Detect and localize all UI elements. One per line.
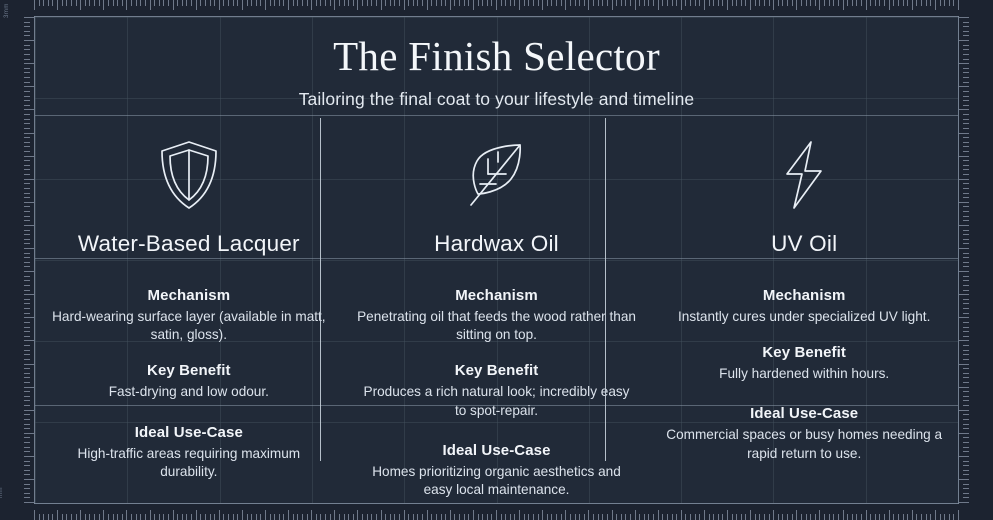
ruler-bottom — [0, 504, 993, 520]
frame-left-border — [34, 16, 35, 504]
card-title: UV Oil — [664, 231, 944, 257]
column-divider-2 — [605, 118, 606, 461]
ruler-label-bottom: mm — [0, 487, 4, 498]
fact-value: High-traffic areas requiring maximum dur… — [49, 445, 329, 481]
ruler-label-top: 3mm — [4, 3, 10, 18]
page-title: The Finish Selector — [35, 33, 958, 80]
fact-label: Ideal Use-Case — [49, 424, 329, 441]
fact-label: Mechanism — [664, 287, 944, 304]
card-title: Hardwax Oil — [357, 231, 637, 257]
card-facts: Mechanism Instantly cures under speciali… — [664, 287, 944, 463]
frame-right-border — [958, 16, 959, 504]
fact-label: Ideal Use-Case — [357, 442, 637, 459]
ruler-top — [0, 0, 993, 16]
fact-mechanism: Mechanism Penetrating oil that feeds the… — [357, 287, 637, 344]
card-facts: Mechanism Hard-wearing surface layer (av… — [49, 287, 329, 481]
fact-ideal-use-case: Ideal Use-Case Homes prioritizing organi… — [357, 442, 637, 499]
lightning-bolt-icon — [664, 138, 944, 212]
fact-value: Produces a rich natural look; incredibly… — [357, 383, 637, 419]
fact-mechanism: Mechanism Hard-wearing surface layer (av… — [49, 287, 329, 344]
leaf-icon — [357, 138, 637, 212]
card-title: Water-Based Lacquer — [49, 231, 329, 257]
shield-icon — [49, 138, 329, 212]
finish-columns: Water-Based Lacquer Mechanism Hard-weari… — [35, 122, 958, 503]
fact-value: Commercial spaces or busy homes needing … — [664, 426, 944, 462]
infographic-canvas: 3mm mm The Finish Selector Tailoring the… — [0, 0, 993, 520]
card-facts: Mechanism Penetrating oil that feeds the… — [357, 287, 637, 499]
fact-ideal-use-case: Ideal Use-Case High-traffic areas requir… — [49, 424, 329, 481]
fact-value: Fast-drying and low odour. — [49, 383, 329, 401]
fact-label: Ideal Use-Case — [664, 405, 944, 422]
fact-label: Key Benefit — [664, 344, 944, 361]
ruler-left: 3mm mm — [0, 0, 34, 520]
fact-mechanism: Mechanism Instantly cures under speciali… — [664, 287, 944, 326]
fact-label: Key Benefit — [49, 362, 329, 379]
fact-key-benefit: Key Benefit Fast-drying and low odour. — [49, 362, 329, 401]
fact-value: Hard-wearing surface layer (available in… — [49, 308, 329, 344]
column-divider-1 — [320, 118, 321, 461]
fact-label: Mechanism — [49, 287, 329, 304]
fact-value: Homes prioritizing organic aesthetics an… — [357, 463, 637, 499]
fact-value: Instantly cures under specialized UV lig… — [664, 308, 944, 326]
fact-value: Fully hardened within hours. — [664, 365, 944, 383]
fact-label: Mechanism — [357, 287, 637, 304]
fact-value: Penetrating oil that feeds the wood rath… — [357, 308, 637, 344]
fact-key-benefit: Key Benefit Fully hardened within hours. — [664, 344, 944, 383]
finish-card-uv-oil: UV Oil Mechanism Instantly cures under s… — [650, 122, 958, 503]
header: The Finish Selector Tailoring the final … — [35, 17, 958, 110]
fact-key-benefit: Key Benefit Produces a rich natural look… — [357, 362, 637, 419]
ruler-right — [959, 0, 993, 520]
fact-ideal-use-case: Ideal Use-Case Commercial spaces or busy… — [664, 405, 944, 462]
frame-top-border — [34, 16, 959, 17]
page-subtitle: Tailoring the final coat to your lifesty… — [35, 89, 958, 110]
frame-bottom-border — [34, 503, 959, 504]
finish-card-water-based-lacquer: Water-Based Lacquer Mechanism Hard-weari… — [35, 122, 343, 503]
fact-label: Key Benefit — [357, 362, 637, 379]
